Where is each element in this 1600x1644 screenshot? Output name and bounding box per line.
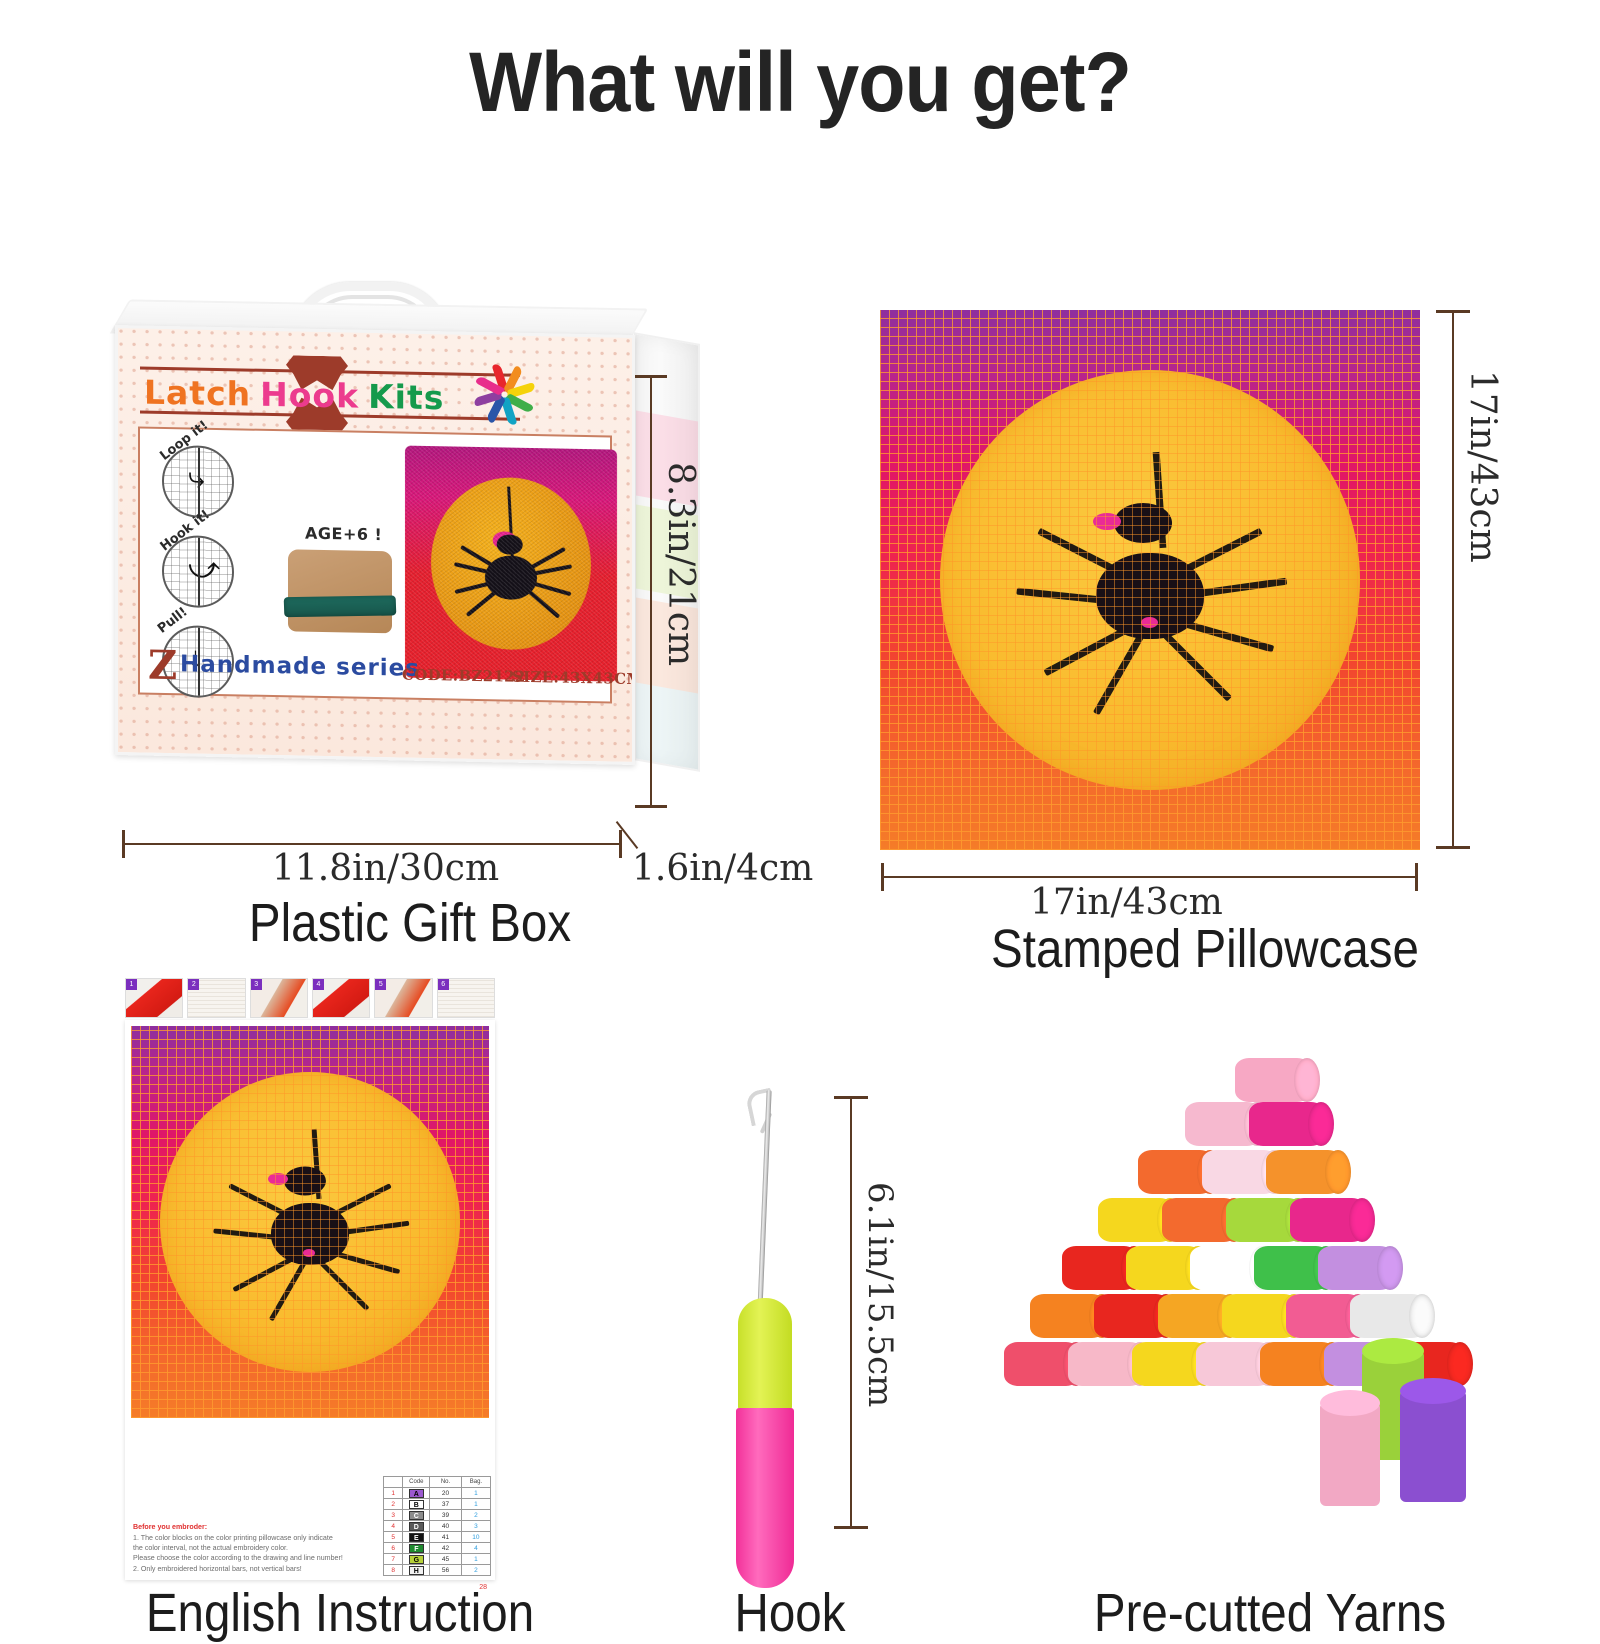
box-height-dimension: 8.3in/21cm bbox=[660, 462, 701, 666]
table-row: 5E4110 bbox=[384, 1532, 491, 1543]
instruction-notes: Before you embroder: 1. The color blocks… bbox=[133, 1522, 383, 1574]
legend-index: 3 bbox=[384, 1510, 403, 1521]
legend-index: 4 bbox=[384, 1521, 403, 1532]
blank-pillow-illustration bbox=[288, 549, 392, 633]
panel-hook: 6.1in/15.5cm Hook bbox=[640, 930, 980, 1620]
box-depth-dimension: 1.6in/4cm bbox=[632, 848, 813, 889]
legend-index: 7 bbox=[384, 1554, 403, 1565]
note-line: the color interval, not the actual embro… bbox=[133, 1543, 383, 1553]
panel-pre-cutted-yarns: Pre-cutted Yarns bbox=[960, 930, 1580, 1620]
thumbnail-step: 3 bbox=[250, 978, 308, 1018]
col-no: No. bbox=[430, 1477, 462, 1488]
dimension-line-horizontal bbox=[122, 843, 622, 845]
col-index bbox=[384, 1477, 403, 1488]
legend-bag: 4 bbox=[461, 1543, 490, 1554]
dimension-cap bbox=[834, 1096, 868, 1099]
legend-count: 40 bbox=[430, 1521, 462, 1532]
legend-code: A bbox=[403, 1488, 430, 1499]
box-width-dimension: 11.8in/30cm bbox=[272, 848, 499, 889]
legend-code: E bbox=[403, 1532, 430, 1543]
dimension-line-vertical bbox=[850, 1098, 852, 1528]
legend-code: F bbox=[403, 1543, 430, 1554]
hook-handle-upper bbox=[738, 1298, 792, 1410]
box-front-face: LatchHookKits Loop it! ⤷ Hook it! ⤻ Pull… bbox=[115, 325, 635, 765]
brand-word-hook: Hook bbox=[260, 375, 359, 416]
thumbnail-step: 2 bbox=[187, 978, 245, 1018]
yarn-bundle bbox=[1235, 1058, 1311, 1102]
legend-index: 8 bbox=[384, 1565, 403, 1576]
legend-index: 2 bbox=[384, 1499, 403, 1510]
stamped-pillowcase-canvas bbox=[880, 310, 1420, 850]
yarn-bundle bbox=[1318, 1246, 1394, 1290]
thumbnail-step: 6 bbox=[437, 978, 495, 1018]
spider-motif bbox=[1000, 466, 1300, 726]
yarn-bundle-pyramid-illustration bbox=[970, 1050, 1570, 1530]
thumbnail-step: 1 bbox=[125, 978, 183, 1018]
dimension-cap bbox=[1436, 846, 1470, 849]
legend-count: 20 bbox=[430, 1488, 462, 1499]
table-row: 1A201 bbox=[384, 1488, 491, 1499]
dimension-cap bbox=[1436, 310, 1470, 313]
table-row: 4D403 bbox=[384, 1521, 491, 1532]
dimension-cap bbox=[122, 830, 125, 858]
pillowcase-height-dimension: 17in/43cm bbox=[1462, 370, 1503, 563]
instruction-thumbnail-strip: 1 2 3 4 5 6 bbox=[125, 978, 495, 1018]
legend-code: B bbox=[403, 1499, 430, 1510]
step-hook-it: Hook it! ⤻ bbox=[162, 535, 244, 609]
handmade-series-label: Handmade series bbox=[180, 651, 420, 682]
gift-box-illustration: LatchHookKits Loop it! ⤷ Hook it! ⤻ Pull… bbox=[115, 330, 715, 830]
note-line: 2. Only embroidered horizontal bars, not… bbox=[133, 1564, 383, 1574]
instruction-pattern-chart bbox=[131, 1026, 489, 1418]
instruction-sheet: 1 2 3 4 5 6 bbox=[125, 1020, 495, 1580]
yarn-canister bbox=[1320, 1402, 1380, 1506]
box-brand-title: LatchHookKits bbox=[144, 373, 453, 418]
legend-bag: 1 bbox=[461, 1499, 490, 1510]
table-header-row: Code No. Bag. bbox=[384, 1477, 491, 1488]
hook-barb-icon bbox=[745, 1088, 778, 1127]
dimension-cap bbox=[619, 830, 622, 858]
page-title: What will you get? bbox=[64, 0, 1536, 140]
panels-container: LatchHookKits Loop it! ⤷ Hook it! ⤻ Pull… bbox=[0, 140, 1600, 1600]
legend-count: 37 bbox=[430, 1499, 462, 1510]
pillowcase-width-dimension: 17in/43cm bbox=[1030, 882, 1223, 923]
finished-pillow-photo bbox=[405, 446, 617, 682]
yarn-bundle bbox=[1266, 1150, 1342, 1194]
legend-index: 1 bbox=[384, 1488, 403, 1499]
table-row: 7G451 bbox=[384, 1554, 491, 1565]
panel-plastic-gift-box: LatchHookKits Loop it! ⤷ Hook it! ⤻ Pull… bbox=[60, 170, 820, 930]
legend-index: 6 bbox=[384, 1543, 403, 1554]
legend-bag: 1 bbox=[461, 1488, 490, 1499]
notes-heading: Before you embroder: bbox=[133, 1522, 383, 1532]
age-recommendation-label: AGE+6 ! bbox=[305, 524, 382, 544]
legend-bag: 3 bbox=[461, 1521, 490, 1532]
caption-pre-cutted-yarns: Pre-cutted Yarns bbox=[997, 1582, 1543, 1644]
legend-count: 41 bbox=[430, 1532, 462, 1543]
legend-bag: 2 bbox=[461, 1510, 490, 1521]
dimension-cap bbox=[1415, 863, 1418, 891]
caption-english-instruction: English Instruction bbox=[67, 1582, 613, 1644]
thumbnail-step: 5 bbox=[374, 978, 432, 1018]
col-code: Code bbox=[403, 1477, 430, 1488]
caption-hook: Hook bbox=[658, 1582, 922, 1644]
spider-motif bbox=[200, 1139, 420, 1329]
table-row: 3C392 bbox=[384, 1510, 491, 1521]
legend-code: H bbox=[403, 1565, 430, 1576]
legend-count: 45 bbox=[430, 1554, 462, 1565]
yarn-bundle bbox=[1350, 1294, 1426, 1338]
hook-length-dimension: 6.1in/15.5cm bbox=[860, 1182, 900, 1407]
dimension-line-vertical bbox=[650, 375, 652, 807]
dimension-cap bbox=[635, 805, 667, 808]
panel-stamped-pillowcase: 17in/43cm 17in/43cm Stamped Pillowcase bbox=[840, 170, 1570, 930]
hook-handle-lower bbox=[736, 1408, 794, 1588]
note-line: 1. The color blocks on the color printin… bbox=[133, 1533, 383, 1543]
latch-hook-tool-illustration bbox=[720, 1090, 810, 1530]
dimension-line-horizontal bbox=[882, 876, 1418, 878]
legend-count: 42 bbox=[430, 1543, 462, 1554]
yarn-canister bbox=[1400, 1390, 1466, 1502]
legend-index: 5 bbox=[384, 1532, 403, 1543]
table-row: 2B371 bbox=[384, 1499, 491, 1510]
z-mark-icon: Z bbox=[148, 649, 182, 684]
legend-bag: 10 bbox=[461, 1532, 490, 1543]
brand-word-kits: Kits bbox=[368, 377, 444, 417]
brand-word-latch: Latch bbox=[144, 373, 251, 414]
col-bag: Bag. bbox=[461, 1477, 490, 1488]
legend-code: D bbox=[403, 1521, 430, 1532]
curved-arrow-icon: ⤷ bbox=[188, 463, 205, 493]
pinwheel-logo-icon bbox=[473, 363, 535, 426]
product-size-label: SIZE:43X43CM bbox=[512, 668, 635, 689]
yarn-bundle bbox=[1290, 1198, 1366, 1242]
dimension-cap bbox=[635, 375, 667, 378]
thumbnail-step: 4 bbox=[312, 978, 370, 1018]
dimension-line-vertical bbox=[1452, 312, 1454, 848]
legend-bag: 2 bbox=[461, 1565, 490, 1576]
box-inner-panel: Loop it! ⤷ Hook it! ⤻ Pull! ↓ AGE+6 ! bbox=[138, 426, 612, 703]
legend-code: C bbox=[403, 1510, 430, 1521]
note-line: Please choose the color according to the… bbox=[133, 1553, 383, 1563]
legend-bag: 1 bbox=[461, 1554, 490, 1565]
hook-arrow-icon: ⤻ bbox=[188, 553, 220, 584]
table-row: 8H562 bbox=[384, 1565, 491, 1576]
yarn-bundle bbox=[1249, 1102, 1325, 1146]
legend-count: 39 bbox=[430, 1510, 462, 1521]
legend-count: 56 bbox=[430, 1565, 462, 1576]
dimension-cap bbox=[881, 863, 884, 891]
legend-code: G bbox=[403, 1554, 430, 1565]
dimension-cap bbox=[834, 1526, 868, 1529]
table-row: 6F424 bbox=[384, 1543, 491, 1554]
product-code-label: CODE:BZ2122 bbox=[402, 666, 526, 686]
color-legend-table: Code No. Bag. 1A2012B3713C3924D4035E4110… bbox=[383, 1476, 491, 1576]
